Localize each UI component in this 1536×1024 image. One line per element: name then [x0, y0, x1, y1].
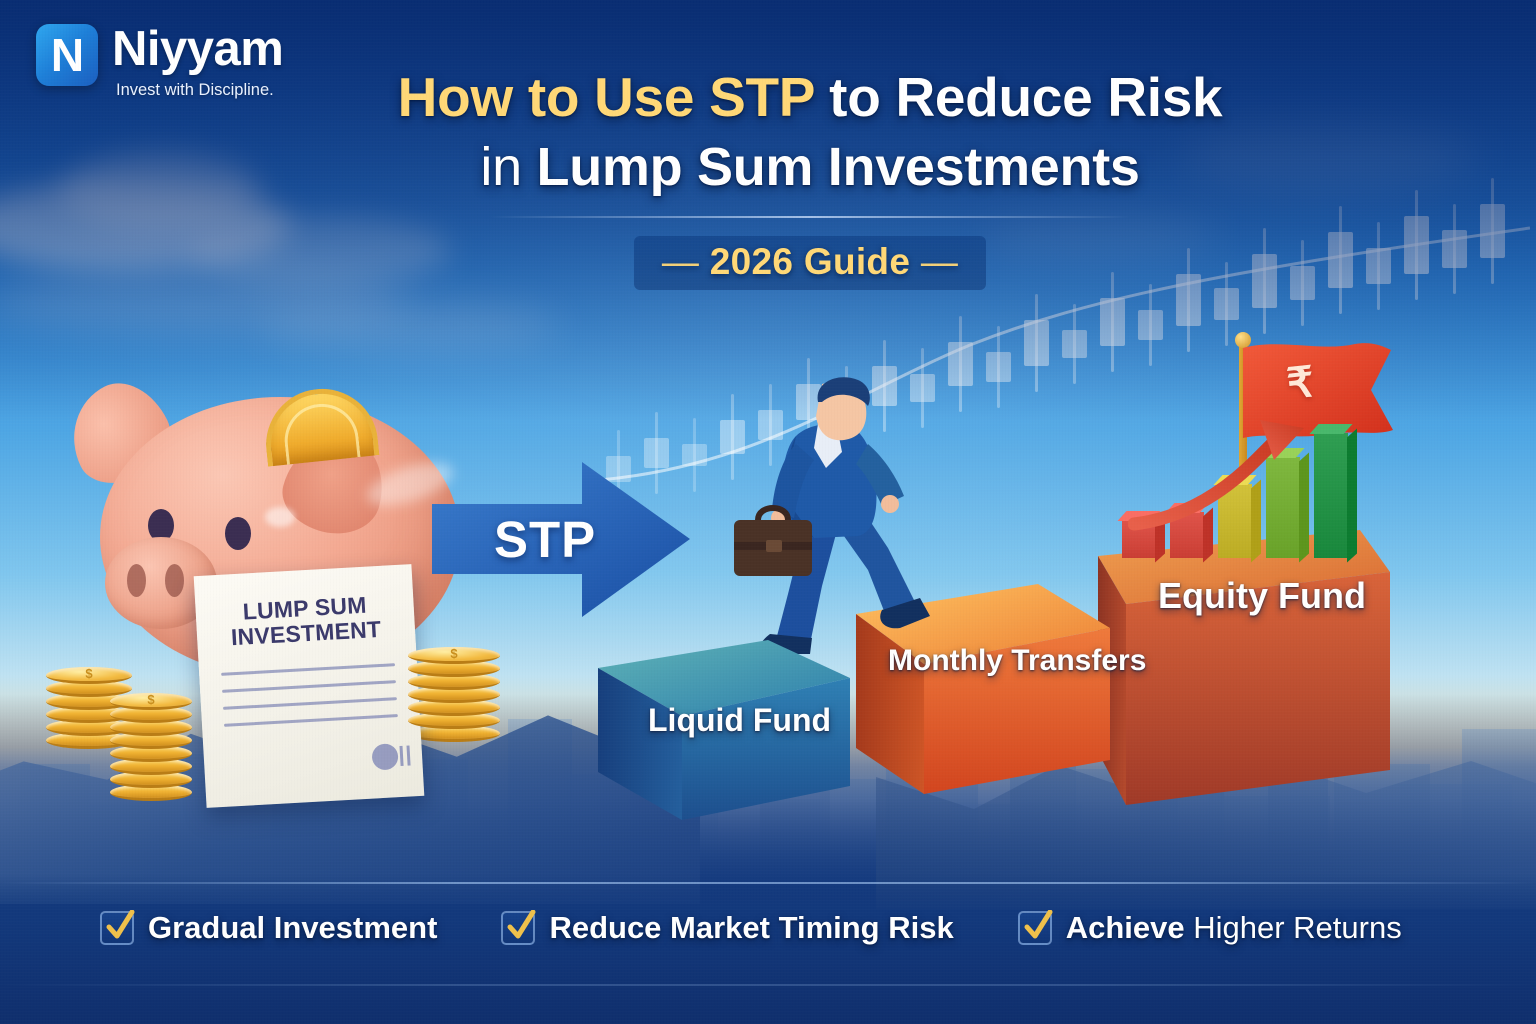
- divider-line: [0, 882, 1536, 884]
- title-gold-part: How to Use STP: [398, 66, 815, 128]
- benefit-3-rest: Higher Returns: [1185, 910, 1402, 945]
- hand: [881, 495, 899, 513]
- gold-coin-icon: $: [46, 667, 132, 684]
- check-icon: [105, 910, 135, 944]
- title-line2-bold: Lump Sum Investments: [537, 137, 1140, 197]
- benefit-1-bold: Gradual: [148, 910, 265, 945]
- lump-sum-document: LUMP SUM INVESTMENT: [194, 564, 425, 808]
- document-rule: [223, 697, 397, 710]
- brand-logo[interactable]: N Niyyam Invest with Discipline.: [36, 24, 283, 99]
- logo-n-icon: N: [36, 24, 98, 86]
- brand-tagline: Invest with Discipline.: [116, 82, 283, 99]
- benefit-item-2[interactable]: Reduce Market Timing Risk: [501, 910, 953, 946]
- document-rule: [222, 680, 396, 693]
- badge-label: 2026 Guide: [710, 241, 910, 282]
- dollar-symbol: $: [46, 666, 132, 681]
- checkbox-icon[interactable]: [501, 911, 535, 945]
- badge-dash-left: —: [662, 241, 699, 282]
- checkbox-icon[interactable]: [100, 911, 134, 945]
- benefit-3-bold: Achieve: [1066, 910, 1185, 945]
- badge-dash-right: —: [921, 241, 958, 282]
- stp-arrow-label: STP: [494, 510, 596, 569]
- benefit-item-1[interactable]: Gradual Investment: [100, 910, 437, 946]
- document-seal-icon: [371, 743, 398, 770]
- benefits-row: Gradual Investment Reduce Market Timing …: [100, 910, 1440, 946]
- logo-mark-letter: N: [51, 32, 83, 78]
- gold-coin-icon: $: [408, 647, 500, 664]
- title-line-1: How to Use STP to Reduce Risk: [380, 66, 1240, 129]
- pig-nostril: [127, 564, 146, 597]
- dollar-symbol: $: [110, 692, 192, 707]
- rupee-symbol: ₹: [1285, 357, 1317, 409]
- bottom-band: [0, 874, 1536, 1024]
- title-block: How to Use STP to Reduce Risk in Lump Su…: [380, 66, 1240, 290]
- benefit-label-2: Reduce Market Timing Risk: [549, 910, 953, 946]
- title-line2-thin: in: [480, 137, 536, 197]
- title-line-2: in Lump Sum Investments: [380, 137, 1240, 199]
- benefit-1-rest: Investment: [265, 910, 437, 945]
- document-rule: [221, 663, 395, 676]
- gold-coin-icon: $: [110, 693, 192, 710]
- benefit-label-3: Achieve Higher Returns: [1066, 910, 1402, 946]
- check-icon: [506, 910, 536, 944]
- pig-eye: [225, 517, 251, 550]
- gold-coin-icon: [261, 383, 380, 466]
- checkbox-icon[interactable]: [1018, 911, 1052, 945]
- pig-nostril: [165, 564, 184, 597]
- brand-name: Niyyam: [112, 26, 283, 73]
- guide-badge: — 2026 Guide —: [634, 236, 986, 290]
- benefit-item-3[interactable]: Achieve Higher Returns: [1018, 910, 1402, 946]
- infographic-poster: N Niyyam Invest with Discipline. How to …: [0, 0, 1536, 1024]
- coin-stack-left-2: $: [110, 693, 192, 807]
- benefit-2-rest: Market Timing Risk: [661, 910, 953, 945]
- step-label-liquid-fund: Liquid Fund: [648, 702, 831, 739]
- divider-line: [0, 984, 1536, 986]
- title-white-part: to Reduce Risk: [814, 66, 1222, 128]
- growth-arrow-icon: [1128, 414, 1358, 544]
- stp-arrow: STP: [432, 452, 692, 627]
- check-icon: [1023, 910, 1053, 944]
- pig-blush: [265, 507, 295, 527]
- title-divider: [490, 216, 1130, 218]
- step-label-equity-fund: Equity Fund: [1158, 575, 1366, 617]
- dollar-symbol: $: [408, 646, 500, 661]
- benefit-2-bold: Reduce: [549, 910, 661, 945]
- document-title: LUMP SUM INVESTMENT: [213, 591, 397, 651]
- businessman-climbing: [718, 372, 948, 662]
- step-liquid-fund: Liquid Fund: [586, 630, 876, 830]
- coin-stack-right: $: [408, 647, 500, 748]
- benefit-label-1: Gradual Investment: [148, 910, 437, 946]
- document-rule: [224, 714, 398, 727]
